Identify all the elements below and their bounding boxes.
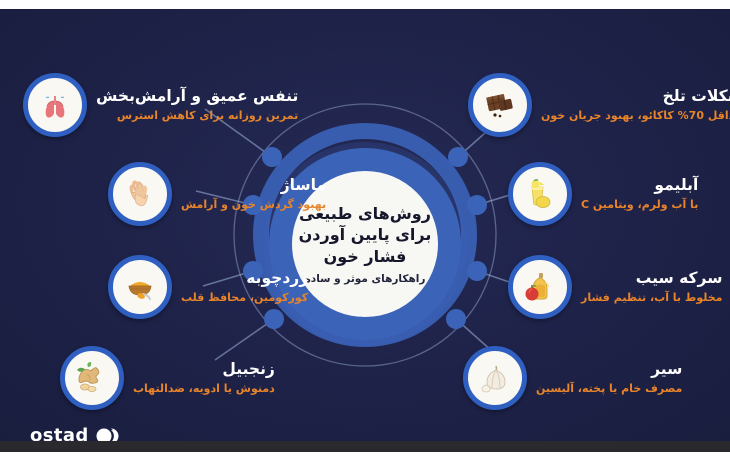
item-subtitle: مصرف خام یا پخته، آلیسین	[536, 382, 682, 395]
item-apple-cider-vinegar-labels: سرکه سیب مخلوط با آب، تنظیم فشار	[581, 270, 722, 304]
ostad-logo-text: ostad	[30, 425, 89, 441]
dark-chocolate-icon	[468, 73, 532, 137]
center-title-line2: برای پایین آوردن	[299, 224, 432, 245]
item-subtitle: کورکومین، محافظ قلب	[181, 291, 308, 304]
item-apple-cider-vinegar[interactable]: سرکه سیب مخلوط با آب، تنظیم فشار	[508, 255, 722, 319]
item-title: زردچوبه	[246, 270, 308, 288]
infographic-body: روش‌های طبیعی برای پایین آوردن فشار خون …	[0, 9, 730, 441]
item-title: سیر	[651, 361, 682, 379]
item-subtitle: حداقل 70% کاکائو، بهبود جریان خون	[541, 109, 730, 122]
massage-hands-icon	[108, 162, 172, 226]
item-subtitle: بهبود گردش خون و آرامش	[181, 198, 326, 211]
item-subtitle: با آب ولرم، ویتامین C	[581, 198, 698, 211]
item-garlic[interactable]: سیر مصرف خام یا پخته، آلیسین	[463, 346, 682, 410]
bottom-dark-bar	[0, 441, 730, 452]
item-title: ماساژ	[281, 177, 326, 195]
lungs-breathing-icon	[23, 73, 87, 137]
item-subtitle: مخلوط با آب، تنظیم فشار	[581, 291, 722, 304]
garlic-icon	[463, 346, 527, 410]
infographic-canvas: روش‌های طبیعی برای پایین آوردن فشار خون …	[0, 0, 730, 460]
item-ginger[interactable]: زنجبیل دمنوش یا ادویه، ضدالتهاب	[60, 346, 275, 410]
item-garlic-labels: سیر مصرف خام یا پخته، آلیسین	[536, 361, 682, 395]
item-ginger-labels: زنجبیل دمنوش یا ادویه، ضدالتهاب	[133, 361, 275, 395]
item-turmeric[interactable]: زردچوبه کورکومین، محافظ قلب	[108, 255, 308, 319]
ostad-logo-icon	[96, 426, 126, 442]
ostad-logo[interactable]: ostad	[30, 425, 126, 441]
item-massage-labels: ماساژ بهبود گردش خون و آرامش	[181, 177, 326, 211]
item-title: زنجبیل	[222, 361, 274, 379]
item-lemon-juice-labels: آبلیمو با آب ولرم، ویتامین C	[581, 177, 698, 211]
apple-cider-vinegar-icon	[508, 255, 572, 319]
center-title-line3: فشار خون	[299, 246, 432, 267]
item-dark-chocolate-labels: شکلات تلخ حداقل 70% کاکائو، بهبود جریان …	[541, 88, 730, 122]
item-subtitle: دمنوش یا ادویه، ضدالتهاب	[133, 382, 275, 395]
item-massage[interactable]: ماساژ بهبود گردش خون و آرامش	[108, 162, 326, 226]
item-turmeric-labels: زردچوبه کورکومین، محافظ قلب	[181, 270, 308, 304]
item-lemon-juice[interactable]: آبلیمو با آب ولرم، ویتامین C	[508, 162, 698, 226]
item-deep-breathing-labels: تنفس عمیق و آرامش‌بخش تمرین روزانه برای …	[96, 88, 298, 122]
item-title: آبلیمو	[654, 177, 698, 195]
lemon-juice-icon	[508, 162, 572, 226]
center-subtitle: راهکارهای موثر و ساده	[305, 273, 426, 285]
bottom-white-strip	[0, 452, 730, 460]
item-subtitle: تمرین روزانه برای کاهش استرس	[117, 109, 298, 122]
ginger-root-icon	[60, 346, 124, 410]
turmeric-bowl-icon	[108, 255, 172, 319]
item-deep-breathing[interactable]: تنفس عمیق و آرامش‌بخش تمرین روزانه برای …	[23, 73, 298, 137]
top-white-strip	[0, 0, 730, 9]
item-title: تنفس عمیق و آرامش‌بخش	[96, 88, 298, 106]
item-title: شکلات تلخ	[663, 88, 730, 106]
item-title: سرکه سیب	[636, 270, 723, 288]
item-dark-chocolate[interactable]: شکلات تلخ حداقل 70% کاکائو، بهبود جریان …	[468, 73, 730, 137]
